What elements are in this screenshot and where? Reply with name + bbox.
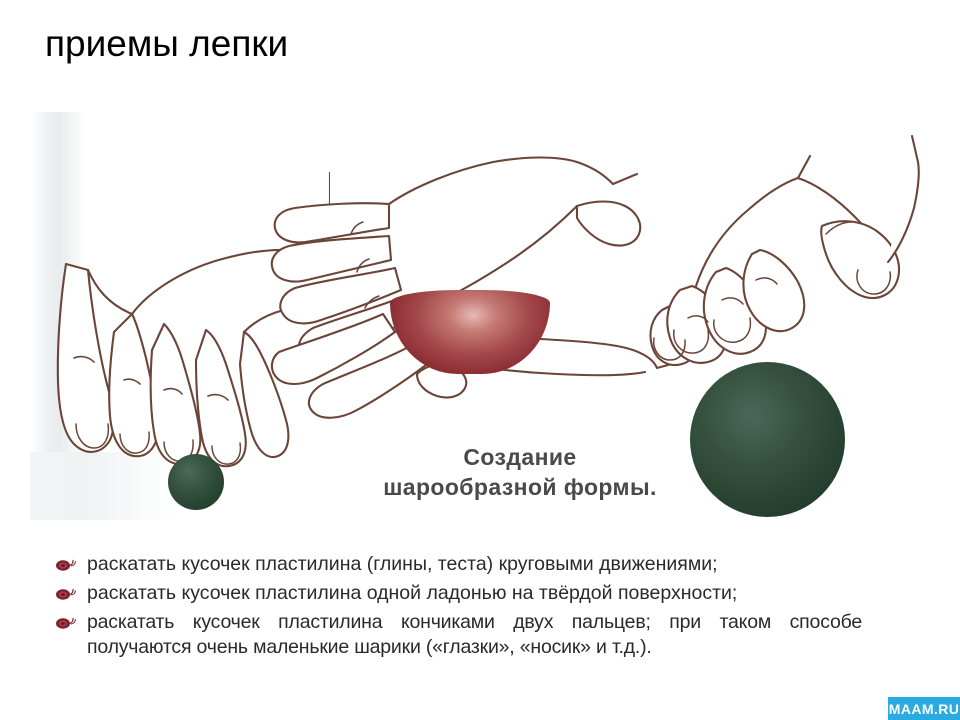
list-item: раскатать кусочек пластилина одной ладон…	[47, 581, 862, 606]
caption-line-2: шарообразной формы.	[360, 472, 680, 502]
slide-canvas: приемы лепки	[0, 0, 960, 720]
clay-ball-small	[168, 454, 224, 510]
list-item-text: раскатать кусочек пластилина кончиками д…	[87, 610, 862, 660]
caption-line-1: Создание	[360, 442, 680, 472]
snail-bullet-icon	[55, 557, 77, 571]
illustration-caption: Создание шарообразной формы.	[360, 442, 680, 502]
list-item: раскатать кусочек пластилина кончиками д…	[47, 610, 862, 660]
snail-bullet-icon	[55, 586, 77, 600]
list-item-text: раскатать кусочек пластилина одной ладон…	[87, 581, 862, 606]
list-item: раскатать кусочек пластилина (глины, тес…	[47, 552, 862, 577]
illustration-panel: Создание шарообразной формы.	[30, 112, 930, 520]
hands-middle-icon	[265, 122, 685, 422]
page-title: приемы лепки	[45, 22, 288, 66]
list-item-text: раскатать кусочек пластилина (глины, тес…	[87, 552, 862, 577]
watermark-badge: MAAM.RU	[888, 697, 960, 720]
snail-bullet-icon	[55, 615, 77, 629]
clay-ball-large	[690, 362, 845, 517]
technique-bullet-list: раскатать кусочек пластилина (глины, тес…	[47, 552, 862, 664]
